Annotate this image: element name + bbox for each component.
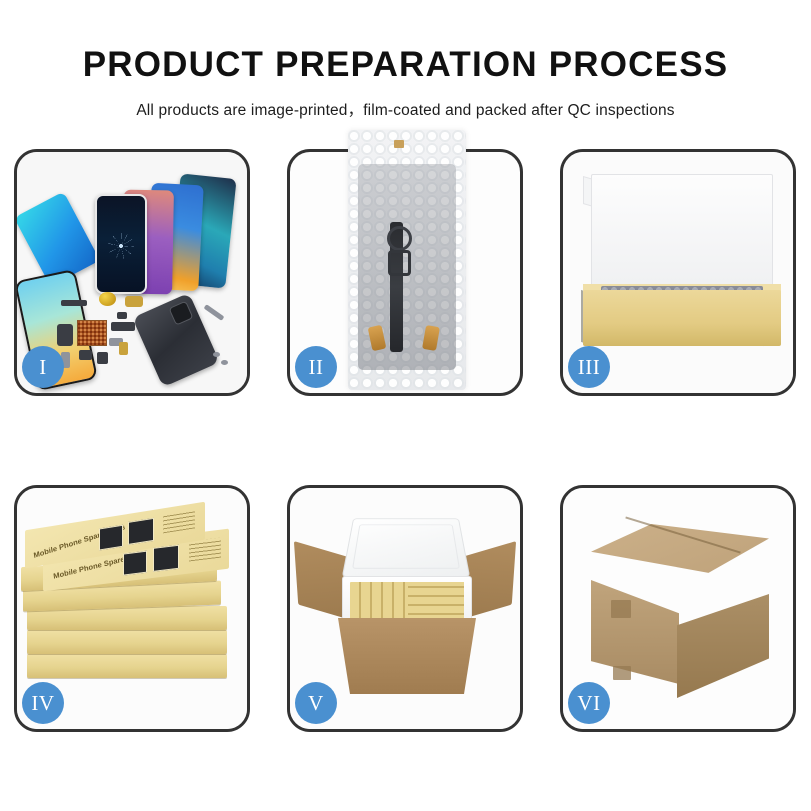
step-badge-5: V	[295, 682, 337, 724]
step-badge-4: IV	[22, 682, 64, 724]
step-badge-2: II	[295, 346, 337, 388]
part-gold-contact	[119, 342, 128, 355]
part-button	[79, 350, 92, 360]
part-strip	[61, 300, 87, 306]
crack-pattern-icon	[108, 233, 134, 259]
stacked-box	[27, 654, 227, 678]
white-box-lid	[591, 174, 773, 302]
process-step-5[interactable]: V	[287, 485, 523, 732]
step-badge-6: VI	[568, 682, 610, 724]
part-flex-cable	[57, 324, 73, 346]
process-step-6[interactable]: VI	[560, 485, 796, 732]
step-4-image: Mobile Phone Spare Parts Mobile Phone Sp…	[17, 488, 247, 729]
part-screw	[221, 360, 228, 365]
foam-box-lid	[342, 518, 470, 577]
step-1-image: I	[17, 152, 247, 393]
carton-tape-mark	[611, 600, 631, 618]
carton-body	[332, 618, 482, 694]
step-badge-1: I	[22, 346, 64, 388]
tape-tab	[394, 140, 404, 148]
part-gold-bracket	[125, 296, 143, 307]
process-step-1[interactable]: I	[14, 149, 250, 396]
screen-flex-cable	[390, 222, 403, 352]
process-step-4[interactable]: Mobile Phone Spare Parts Mobile Phone Sp…	[14, 485, 250, 732]
step-badge-3: III	[568, 346, 610, 388]
part-camera-module	[97, 352, 108, 364]
stacked-box	[27, 630, 227, 654]
page-header: PRODUCT PREPARATION PROCESS All products…	[0, 0, 811, 120]
speaker-component	[99, 292, 116, 306]
step-2-image: II	[290, 152, 520, 393]
cracked-front-glass	[95, 194, 147, 294]
page-subtitle: All products are image-printed，film-coat…	[0, 98, 811, 120]
kraft-box-base	[583, 290, 781, 346]
bubble-wrap-sleeve	[348, 130, 466, 390]
step-6-image: VI	[563, 488, 793, 729]
part-small-chip	[117, 312, 127, 319]
chip-array-component	[77, 320, 107, 346]
packed-kraft-boxes-row2	[408, 582, 464, 622]
step-5-image: V	[290, 488, 520, 729]
process-step-3[interactable]: III	[560, 149, 796, 396]
part-screw	[213, 352, 220, 357]
page-title: PRODUCT PREPARATION PROCESS	[0, 46, 811, 85]
process-steps-grid: I II III	[14, 149, 797, 732]
process-step-2[interactable]: II	[287, 149, 523, 396]
carton-tape-mark	[613, 666, 631, 680]
step-3-image: III	[563, 152, 793, 393]
part-connector	[111, 322, 135, 331]
